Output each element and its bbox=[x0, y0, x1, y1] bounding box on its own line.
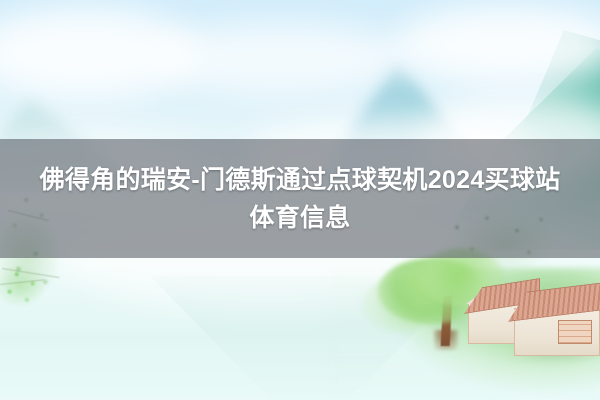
caption-overlay-band: 佛得角的瑞安-门德斯通过点球契机2024买球站 体育信息 bbox=[0, 139, 600, 258]
house bbox=[462, 266, 600, 358]
screenshot-canvas: 佛得角的瑞安-门德斯通过点球契机2024买球站 体育信息 bbox=[0, 0, 600, 400]
cloud-mist-2 bbox=[150, 24, 410, 94]
left-edge-foliage-bright bbox=[0, 258, 60, 316]
caption-title-text: 佛得角的瑞安-门德斯通过点球契机2024买球站 体育信息 bbox=[20, 161, 580, 237]
house-window bbox=[558, 320, 592, 344]
